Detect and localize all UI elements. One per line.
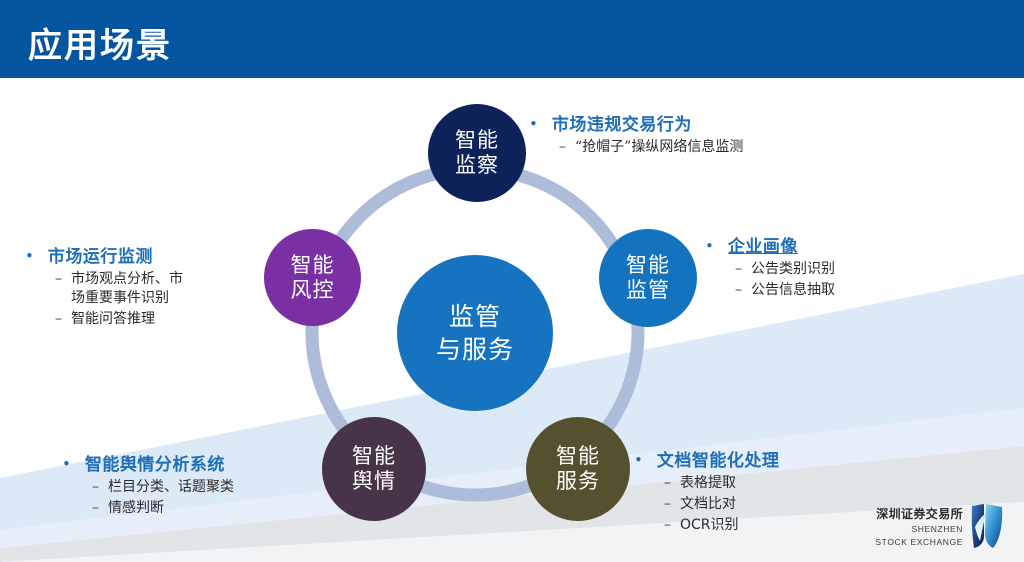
dash-icon: –: [559, 138, 575, 157]
list-item: – 表格提取: [664, 474, 779, 493]
bullet-icon: •: [705, 239, 714, 254]
callout-market-monitoring: • 市场运行监测 – 市场观点分析、市场重要事件识别 – 智能问答推理: [25, 242, 240, 329]
callout-right-item-1: 公告信息抽取: [751, 281, 835, 300]
bullet-icon: •: [25, 249, 34, 264]
logo-text-block: 深圳证券交易所 SHENZHEN STOCK EXCHANGE: [855, 505, 969, 547]
list-item: – 情感判断: [92, 499, 234, 518]
callout-market-violation: • 市场违规交易行为 – “抢帽子”操纵网络信息监测: [529, 110, 743, 157]
list-item: – OCR识别: [664, 516, 779, 535]
list-item: – 文档比对: [664, 495, 779, 514]
node-intelligent-public-opinion[interactable]: 智能 舆情: [322, 417, 426, 521]
callout-bottom-right-item-2: OCR识别: [680, 516, 739, 535]
node-bottom-right-line1: 智能: [556, 444, 600, 469]
dash-icon: –: [92, 478, 108, 497]
callout-bottom-left-item-0: 栏目分类、话题聚类: [108, 478, 234, 497]
callout-bottom-right-heading: 文档智能化处理: [657, 446, 780, 471]
diagram-stage: 监管 与服务 智能 监察 智能 监管 智能 风控 智能 舆情 智能 服务 • 市…: [0, 0, 1024, 562]
dash-icon: –: [664, 474, 680, 493]
list-item: – 市场观点分析、市场重要事件识别: [55, 270, 240, 308]
list-item: – 栏目分类、话题聚类: [92, 478, 234, 497]
szse-logo: 深圳证券交易所 SHENZHEN STOCK EXCHANGE: [855, 498, 1005, 554]
shield-logo-icon: [969, 503, 1005, 549]
callout-left-heading: 市场运行监测: [48, 242, 153, 267]
callout-public-opinion-system: • 智能舆情分析系统 – 栏目分类、话题聚类 – 情感判断: [62, 450, 234, 518]
dash-icon: –: [92, 499, 108, 518]
dash-icon: –: [664, 495, 680, 514]
callout-top-heading: 市场违规交易行为: [552, 110, 692, 135]
node-right-line2: 监管: [626, 278, 670, 303]
callout-bottom-left-item-1: 情感判断: [108, 499, 164, 518]
callout-document-processing: • 文档智能化处理 – 表格提取 – 文档比对 – OCR识别: [634, 446, 779, 535]
dash-icon: –: [55, 270, 71, 289]
node-intelligent-risk-control[interactable]: 智能 风控: [264, 229, 361, 326]
node-top-line1: 智能: [455, 128, 499, 153]
callout-right-item-0: 公告类别识别: [751, 260, 835, 279]
callout-left-item-0: 市场观点分析、市场重要事件识别: [71, 270, 191, 308]
node-center-line1: 监管: [449, 302, 501, 332]
dash-icon: –: [735, 260, 751, 279]
node-bottom-left-line1: 智能: [352, 444, 396, 469]
node-intelligent-service[interactable]: 智能 服务: [526, 417, 630, 521]
list-item: – 公告信息抽取: [735, 281, 835, 300]
callout-bottom-right-item-0: 表格提取: [680, 474, 736, 493]
bullet-icon: •: [634, 453, 643, 468]
node-bottom-left-line2: 舆情: [352, 469, 396, 494]
list-item: – 公告类别识别: [735, 260, 835, 279]
list-item: – 智能问答推理: [55, 310, 240, 329]
list-item: – “抢帽子”操纵网络信息监测: [559, 138, 743, 157]
node-bottom-right-line2: 服务: [556, 469, 600, 494]
dash-icon: –: [664, 516, 680, 535]
callout-enterprise-profile: • 企业画像 – 公告类别识别 – 公告信息抽取: [705, 232, 835, 300]
node-left-line1: 智能: [291, 253, 335, 278]
callout-bottom-left-heading: 智能舆情分析系统: [85, 450, 225, 475]
callout-left-item-1: 智能问答推理: [71, 310, 155, 329]
node-top-line2: 监察: [455, 153, 499, 178]
node-center[interactable]: 监管 与服务: [397, 255, 553, 411]
dash-icon: –: [55, 310, 71, 329]
logo-english-line2: STOCK EXCHANGE: [855, 537, 963, 548]
callout-top-item-0: “抢帽子”操纵网络信息监测: [575, 138, 743, 157]
node-intelligent-supervision[interactable]: 智能 监管: [599, 229, 697, 327]
bullet-icon: •: [529, 117, 538, 132]
node-intelligent-inspection[interactable]: 智能 监察: [428, 104, 526, 202]
node-center-line2: 与服务: [436, 335, 514, 365]
dash-icon: –: [735, 281, 751, 300]
callout-right-heading: 企业画像: [728, 232, 798, 257]
logo-english-line1: SHENZHEN: [855, 524, 963, 535]
callout-bottom-right-item-1: 文档比对: [680, 495, 736, 514]
logo-chinese-name: 深圳证券交易所: [855, 505, 963, 522]
bullet-icon: •: [62, 457, 71, 472]
node-right-line1: 智能: [626, 253, 670, 278]
node-left-line2: 风控: [291, 278, 335, 303]
